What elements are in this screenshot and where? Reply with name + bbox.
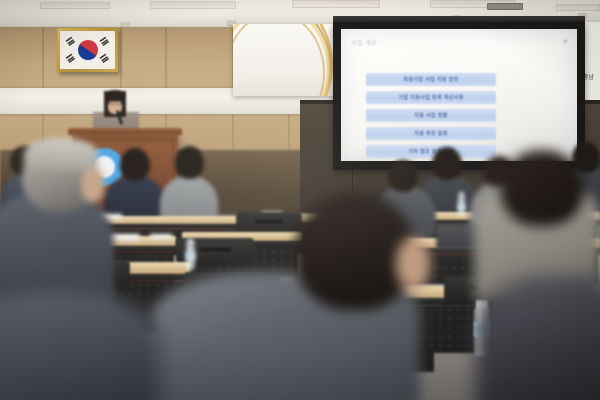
slide-bullet-bar: 지원 추진 일정: [366, 127, 496, 140]
projection-screen-surface: 사업 개요 ◆ 회원기업 사업 지원 방안 기업 지원사업 정책 개선사항 지원…: [341, 29, 577, 161]
slide-corner-mark: ◆: [563, 37, 568, 45]
slide-bullet-bar: 회원기업 사업 지원 방안: [366, 73, 496, 86]
slide-bullet-bar: 기업 지원사업 정책 개선사항: [366, 91, 496, 104]
conference-room-photo: 대한상공회의 상공 일시 : 2023년 1 명 대전충남 사업 개요 ◆ 회원…: [0, 0, 600, 400]
ceiling-vent: [487, 3, 523, 10]
slide-title: 사업 개요: [351, 38, 377, 47]
slide-bullet-bar: 지원 사업 현황: [366, 109, 496, 122]
chair: [236, 212, 302, 234]
slide-bullet-bar: 기타 협조 요청 사항: [366, 145, 496, 158]
presenter-hair: [104, 90, 126, 101]
taeguk-circle: [78, 40, 98, 60]
paper-sheet: [150, 234, 172, 240]
projection-screen-frame: 사업 개요 ◆ 회원기업 사업 지원 방안 기업 지원사업 정책 개선사항 지원…: [333, 22, 585, 170]
framed-korean-national-flag: [57, 28, 118, 72]
presenter-glasses: [109, 101, 122, 105]
